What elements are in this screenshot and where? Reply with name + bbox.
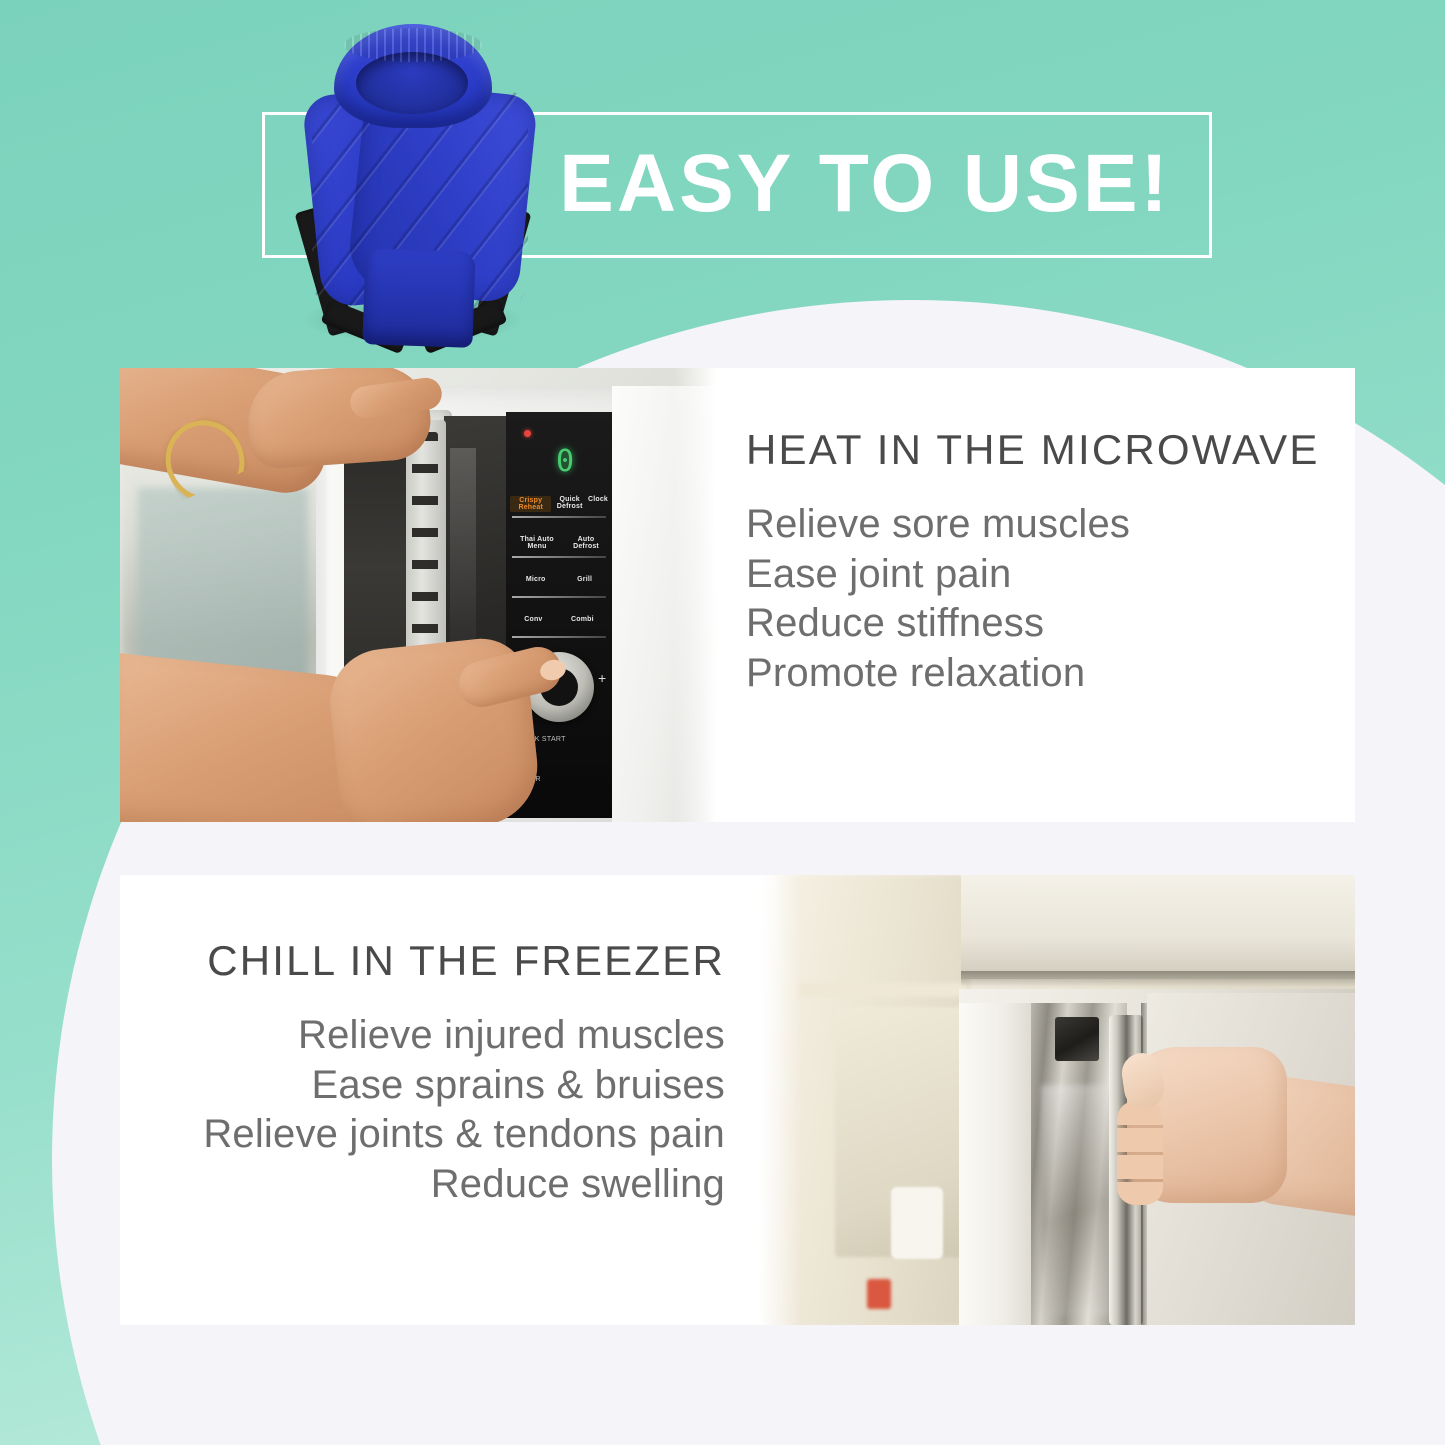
microwave-indicator-led — [524, 430, 531, 437]
freezer-heading: CHILL IN THE FREEZER — [160, 937, 725, 985]
microwave-button-crispy-reheat[interactable]: Crispy Reheat — [510, 496, 551, 512]
microwave-button-quick-defrost[interactable]: Quick Defrost — [551, 496, 588, 512]
microwave-button-clock[interactable]: Clock — [588, 496, 608, 512]
panel-heat-microwave: 0 Crispy Reheat Quick Defrost Clock Thai… — [120, 368, 1355, 822]
microwave-button-conv[interactable]: Conv — [524, 616, 542, 623]
microwave-button-grill[interactable]: Grill — [577, 576, 592, 583]
microwave-button-row-2: Thai Auto Menu Auto Defrost — [510, 536, 608, 550]
product-wrap-tip — [362, 248, 475, 348]
product-image-neck-wrap — [278, 14, 550, 362]
microwave-display: 0 — [538, 444, 592, 488]
product-collar-ruching — [344, 28, 482, 62]
freezer-copy-block: CHILL IN THE FREEZER Relieve injured mus… — [120, 875, 755, 1325]
fridge-steel-reflection — [1041, 1085, 1111, 1315]
microwave-divider-3 — [512, 596, 606, 598]
fridge-top-shadow — [961, 971, 1355, 987]
cabinet-shelf — [799, 983, 967, 997]
infographic-poster: EASY TO USE! 0 — [0, 0, 1445, 1445]
benefit-item: Reduce stiffness — [746, 599, 1320, 649]
fridge-door-inner-face — [959, 1003, 1035, 1325]
photo-edge-fade — [674, 368, 720, 822]
benefit-item: Relieve sore muscles — [746, 500, 1320, 550]
fridge-top-unit — [961, 875, 1355, 979]
benefit-item: Relieve joints & tendons pain — [160, 1110, 725, 1160]
microwave-button-combi[interactable]: Combi — [571, 616, 594, 623]
benefit-item: Relieve injured muscles — [160, 1011, 725, 1061]
microwave-button-auto-defrost[interactable]: Auto Defrost — [564, 536, 608, 550]
benefit-item: Ease joint pain — [746, 550, 1320, 600]
freezer-benefit-list: Relieve injured muscles Ease sprains & b… — [160, 1011, 725, 1209]
fridge-red-item — [867, 1279, 891, 1309]
page-title: EASY TO USE! — [520, 128, 1210, 240]
microwave-divider-2 — [512, 556, 606, 558]
microwave-heading: HEAT IN THE MICROWAVE — [746, 426, 1320, 474]
benefit-item: Reduce swelling — [160, 1160, 725, 1210]
microwave-button-row-3: Micro Grill — [510, 576, 608, 583]
freezer-hand-fingers — [1117, 1101, 1163, 1205]
microwave-button-micro[interactable]: Micro — [526, 576, 546, 583]
fridge-handle-bracket — [1055, 1017, 1099, 1061]
microwave-divider-4 — [512, 636, 606, 638]
fridge-white-item — [891, 1187, 943, 1259]
panel-chill-freezer: CHILL IN THE FREEZER Relieve injured mus… — [120, 875, 1355, 1325]
microwave-benefit-list: Relieve sore muscles Ease joint pain Red… — [746, 500, 1320, 698]
microwave-plus-icon: + — [598, 670, 606, 686]
photo-edge-fade — [755, 875, 801, 1325]
microwave-copy-block: HEAT IN THE MICROWAVE Relieve sore muscl… — [720, 368, 1355, 822]
microwave-divider-1 — [512, 516, 606, 518]
benefit-item: Ease sprains & bruises — [160, 1061, 725, 1111]
freezer-photo — [755, 875, 1355, 1325]
microwave-photo: 0 Crispy Reheat Quick Defrost Clock Thai… — [120, 368, 720, 822]
benefit-item: Promote relaxation — [746, 649, 1320, 699]
microwave-button-row-1: Crispy Reheat Quick Defrost Clock — [510, 496, 608, 512]
microwave-button-row-4: Conv Combi — [510, 616, 608, 623]
microwave-button-thai-auto-menu[interactable]: Thai Auto Menu — [510, 536, 564, 550]
